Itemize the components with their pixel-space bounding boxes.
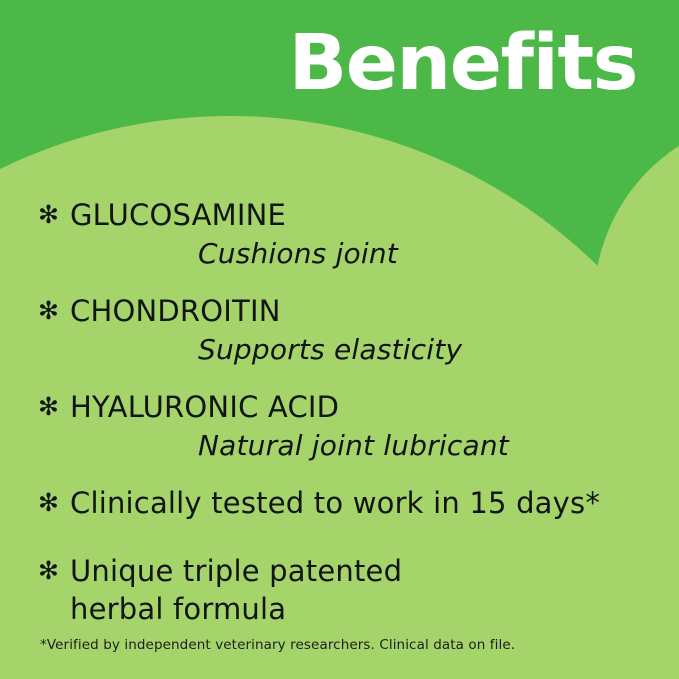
flower-asterisk-bullet-icon: ✻ bbox=[38, 388, 64, 426]
benefit-item-description: Supports elasticity bbox=[70, 330, 638, 370]
flower-asterisk-bullet-icon: ✻ bbox=[38, 292, 64, 330]
benefit-item-title: Clinically tested to work in 15 days* bbox=[70, 484, 638, 522]
footnote-disclaimer: *Verified by independent veterinary rese… bbox=[40, 636, 515, 654]
benefit-item: ✻HYALURONIC ACIDNatural joint lubricant bbox=[38, 388, 638, 466]
flower-asterisk-bullet-icon: ✻ bbox=[38, 196, 64, 234]
benefit-item: ✻Unique triple patented herbal formula bbox=[38, 552, 638, 628]
benefit-item: ✻CHONDROITINSupports elasticity bbox=[38, 292, 638, 370]
benefit-item-body: Unique triple patented herbal formula bbox=[70, 552, 638, 628]
flower-asterisk-bullet-icon: ✻ bbox=[38, 484, 64, 522]
page-title: Benefits bbox=[289, 22, 638, 105]
benefit-item-title: Unique triple patented herbal formula bbox=[70, 552, 638, 628]
benefits-poster: Benefits ✻GLUCOSAMINECushions joint✻CHON… bbox=[0, 0, 679, 679]
benefit-item-body: GLUCOSAMINECushions joint bbox=[70, 196, 638, 274]
flower-asterisk-bullet-icon: ✻ bbox=[38, 552, 64, 590]
benefit-item-description: Natural joint lubricant bbox=[70, 426, 638, 466]
benefit-item-title: HYALURONIC ACID bbox=[70, 388, 638, 426]
benefit-item-title: CHONDROITIN bbox=[70, 292, 638, 330]
benefit-item-description: Cushions joint bbox=[70, 234, 638, 274]
benefit-item-body: Clinically tested to work in 15 days* bbox=[70, 484, 638, 522]
benefits-list: ✻GLUCOSAMINECushions joint✻CHONDROITINSu… bbox=[38, 196, 638, 646]
benefit-item: ✻Clinically tested to work in 15 days* bbox=[38, 484, 638, 522]
benefit-item-body: CHONDROITINSupports elasticity bbox=[70, 292, 638, 370]
benefit-item-title: GLUCOSAMINE bbox=[70, 196, 638, 234]
benefit-item-body: HYALURONIC ACIDNatural joint lubricant bbox=[70, 388, 638, 466]
benefit-item: ✻GLUCOSAMINECushions joint bbox=[38, 196, 638, 274]
